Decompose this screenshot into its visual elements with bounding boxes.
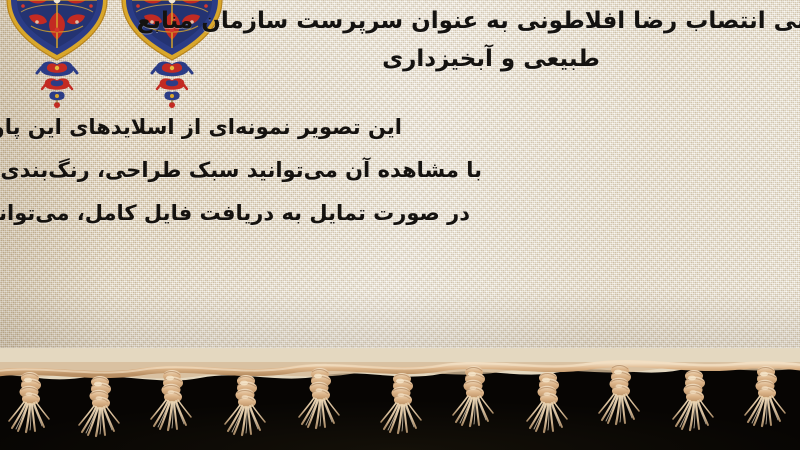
body-line-1: این تصویر نمونه‌ای از اسلایدهای این پاور… <box>0 106 800 149</box>
fringe-tassel <box>9 372 49 432</box>
fringe-tassel <box>79 376 119 436</box>
slide-title: ررسی انتصاب رضا افلاطونی به عنوان سرپرست… <box>194 2 794 78</box>
presentation-slide: ررسی انتصاب رضا افلاطونی به عنوان سرپرست… <box>0 0 800 450</box>
carpet-fringe <box>0 348 800 450</box>
slide-body: این تصویر نمونه‌ای از اسلایدهای این پاور… <box>0 106 800 235</box>
body-line-2: با مشاهده آن می‌توانید سبک طراحی، رنگ‌بن… <box>0 149 800 192</box>
persian-pendant-drop-right <box>152 62 192 108</box>
persian-medallion-ornament-left <box>7 0 107 60</box>
body-line-3: در صورت تمایل به دریافت فایل کامل، می‌تو… <box>0 192 800 235</box>
fringe-tassel <box>225 375 265 435</box>
title-line-1: ررسی انتصاب رضا افلاطونی به عنوان سرپرست… <box>194 2 800 40</box>
fringe-tassel <box>381 373 421 433</box>
fringe-tassel <box>453 366 493 426</box>
fringe-tassel <box>599 364 639 424</box>
fringe-tassel <box>527 372 567 432</box>
fringe-tassel <box>673 370 713 430</box>
fringe-tassel <box>745 366 785 426</box>
title-line-2: طبیعی و آبخیزداری <box>194 40 788 78</box>
persian-pendant-drop-left <box>37 62 77 108</box>
